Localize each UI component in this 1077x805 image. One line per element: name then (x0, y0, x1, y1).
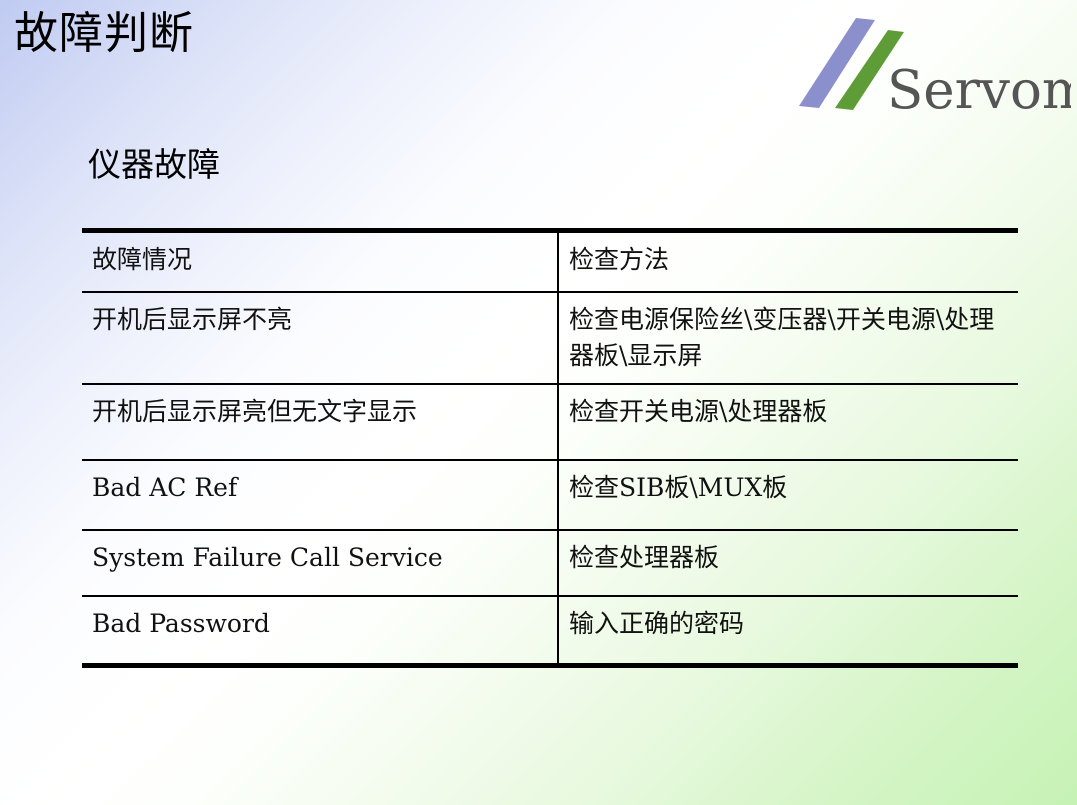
servomex-logo: Servomex (791, 8, 1071, 123)
slide-canvas: 故障判断 Servomex 仪器故障 故障情况 检查方法 (0, 0, 1077, 805)
fault-text: 开机后显示屏不亮 (92, 302, 557, 338)
table-cell-fault: System Failure Call Service (82, 530, 558, 596)
logo-slash-purple-icon (799, 18, 875, 108)
table-cell-fault: Bad AC Ref (82, 460, 558, 530)
header-label-fault: 故障情况 (92, 242, 557, 278)
table-cell-check: 输入正确的密码 (558, 596, 1018, 666)
fault-text: Bad AC Ref (92, 470, 557, 506)
fault-text: Bad Password (92, 606, 557, 642)
page-title: 故障判断 (14, 6, 194, 62)
check-text: 检查SIB板\MUX板 (569, 470, 1018, 506)
table-row: Bad AC Ref 检查SIB板\MUX板 (82, 460, 1018, 530)
check-text: 检查电源保险丝\变压器\开关电源\处理器板\显示屏 (569, 302, 1018, 374)
table-cell-fault: 开机后显示屏亮但无文字显示 (82, 384, 558, 460)
check-text: 检查处理器板 (569, 540, 1018, 576)
check-text: 检查开关电源\处理器板 (569, 394, 1018, 430)
section-subtitle: 仪器故障 (88, 142, 220, 188)
table-cell-fault: 开机后显示屏不亮 (82, 292, 558, 384)
table-header-cell-fault: 故障情况 (82, 231, 558, 293)
table-cell-check: 检查电源保险丝\变压器\开关电源\处理器板\显示屏 (558, 292, 1018, 384)
table-header-cell-check: 检查方法 (558, 231, 1018, 293)
table-row: System Failure Call Service 检查处理器板 (82, 530, 1018, 596)
table-cell-check: 检查SIB板\MUX板 (558, 460, 1018, 530)
table-row: 开机后显示屏不亮 检查电源保险丝\变压器\开关电源\处理器板\显示屏 (82, 292, 1018, 384)
table-header-row: 故障情况 检查方法 (82, 231, 1018, 293)
table-row: 开机后显示屏亮但无文字显示 检查开关电源\处理器板 (82, 384, 1018, 460)
fault-diagnosis-table: 故障情况 检查方法 开机后显示屏不亮 检查电源保险丝\变压器\开关电源\处理器板… (82, 228, 1018, 668)
logo-wordmark: Servomex (887, 60, 1071, 121)
check-text: 输入正确的密码 (569, 606, 1018, 642)
fault-text: System Failure Call Service (92, 540, 557, 576)
table-cell-fault: Bad Password (82, 596, 558, 666)
table-row: Bad Password 输入正确的密码 (82, 596, 1018, 666)
header-label-check: 检查方法 (569, 242, 1018, 278)
fault-text: 开机后显示屏亮但无文字显示 (92, 394, 557, 430)
table-cell-check: 检查处理器板 (558, 530, 1018, 596)
table-cell-check: 检查开关电源\处理器板 (558, 384, 1018, 460)
